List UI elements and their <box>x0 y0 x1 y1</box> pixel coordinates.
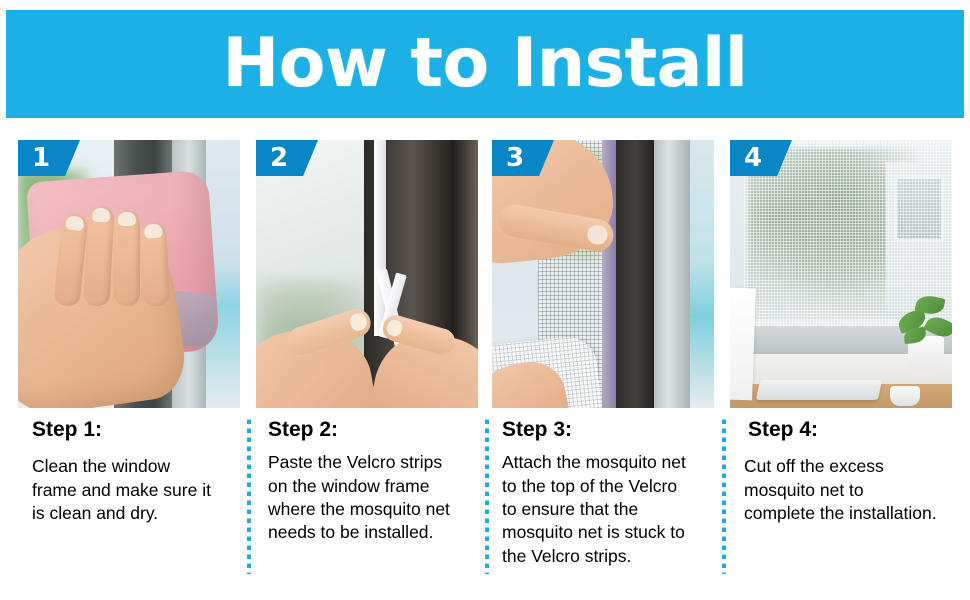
plant-leaves <box>896 290 952 346</box>
step-3-photo: 3 <box>492 140 714 408</box>
cup <box>890 386 920 406</box>
step-3-body: Attach the mosquito net to the top of th… <box>502 451 728 568</box>
step-card-4: 4 Step 4: Cut off the excess mosquito ne… <box>730 140 966 580</box>
step-2-image-applying-velcro-strip <box>256 140 478 408</box>
fingers <box>52 206 182 326</box>
step-2-body: Paste the Velcro strips on the window fr… <box>268 451 492 545</box>
step-1-photo: 1 <box>18 140 240 408</box>
step-4-body: Cut off the excess mosquito net to compl… <box>744 455 966 525</box>
step-divider-2 <box>485 418 489 574</box>
step-card-1: 1 Step 1: Clean the window frame and mak… <box>18 140 254 580</box>
step-card-3: 3 Step 3: Attach the mosquito net to the… <box>492 140 728 580</box>
step-2-photo: 2 <box>256 140 478 408</box>
step-4-image-finished-window <box>730 140 952 408</box>
header-banner: How to Install <box>6 10 964 118</box>
step-1-image-cleaning-window-frame <box>18 140 240 408</box>
finger <box>114 210 140 306</box>
step-4-photo: 4 <box>730 140 952 408</box>
window-frame-light <box>654 140 690 408</box>
step-divider-1 <box>247 418 251 574</box>
step-3-title: Step 3: <box>502 418 728 441</box>
step-number-1: 1 <box>32 145 50 171</box>
window-frame-dark <box>616 140 654 408</box>
step-number-2: 2 <box>270 145 288 171</box>
finger <box>140 221 170 306</box>
step-card-2: 2 Step 2: Paste the Velcro strips on the… <box>256 140 492 580</box>
step-number-4: 4 <box>744 145 762 171</box>
step-4-title: Step 4: <box>748 418 966 441</box>
step-1-body: Clean the window frame and make sure it … <box>32 455 254 525</box>
step-divider-3 <box>722 418 726 574</box>
leaf <box>923 312 952 341</box>
step-3-image-attaching-mosquito-net <box>492 140 714 408</box>
step-number-3: 3 <box>506 145 524 171</box>
step-2-text: Step 2: Paste the Velcro strips on the w… <box>262 418 492 545</box>
laptop <box>756 380 882 400</box>
page-title: How to Install <box>222 30 747 98</box>
step-4-text: Step 4: Cut off the excess mosquito net … <box>736 418 966 525</box>
step-3-text: Step 3: Attach the mosquito net to the t… <box>498 418 728 568</box>
step-1-title: Step 1: <box>32 418 254 441</box>
step-2-title: Step 2: <box>268 418 492 441</box>
finger <box>83 205 114 306</box>
step-1-text: Step 1: Clean the window frame and make … <box>24 418 254 525</box>
paper-sheet <box>730 288 756 401</box>
window-outside-view <box>690 140 714 408</box>
